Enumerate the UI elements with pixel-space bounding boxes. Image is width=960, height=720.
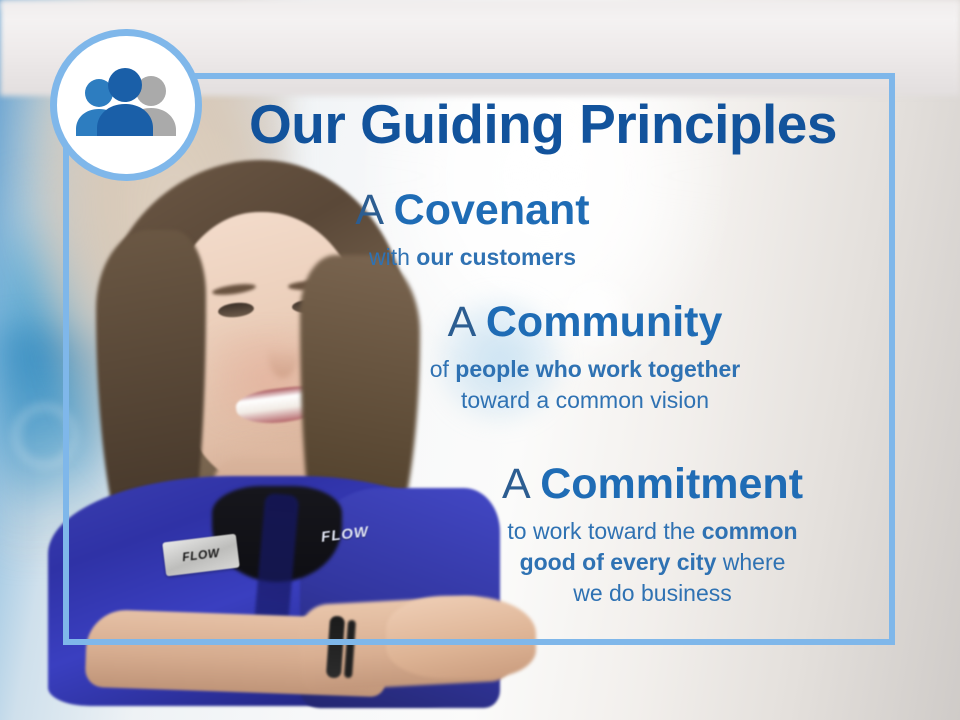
principle-community: A Community of people who work togethert… bbox=[330, 300, 840, 416]
principle-article: A bbox=[502, 460, 528, 508]
principle-commitment: A Commitment to work toward the commongo… bbox=[425, 462, 880, 609]
principle-keyword: Community bbox=[486, 298, 723, 346]
principle-subtext: to work toward the commongood of every c… bbox=[425, 516, 880, 609]
principle-article: A bbox=[355, 186, 381, 234]
principle-article: A bbox=[448, 298, 474, 346]
guiding-principles-graphic: FLOW FLOW Our Guiding Principles A Coven… bbox=[0, 0, 960, 720]
principle-title: A Community bbox=[330, 300, 840, 345]
name-badge-text: FLOW bbox=[181, 546, 220, 564]
principle-subtext: with our customers bbox=[235, 242, 710, 273]
principle-keyword: Commitment bbox=[540, 460, 803, 508]
group-of-people-icon bbox=[50, 29, 202, 181]
principle-covenant: A Covenant with our customers bbox=[235, 188, 710, 273]
employee-nose bbox=[268, 330, 298, 378]
principle-keyword: Covenant bbox=[394, 186, 590, 234]
principle-subtext: of people who work togethertoward a comm… bbox=[330, 354, 840, 416]
principle-title: A Covenant bbox=[235, 188, 710, 233]
principle-title: A Commitment bbox=[425, 462, 880, 507]
page-title: Our Guiding Principles bbox=[213, 97, 873, 152]
